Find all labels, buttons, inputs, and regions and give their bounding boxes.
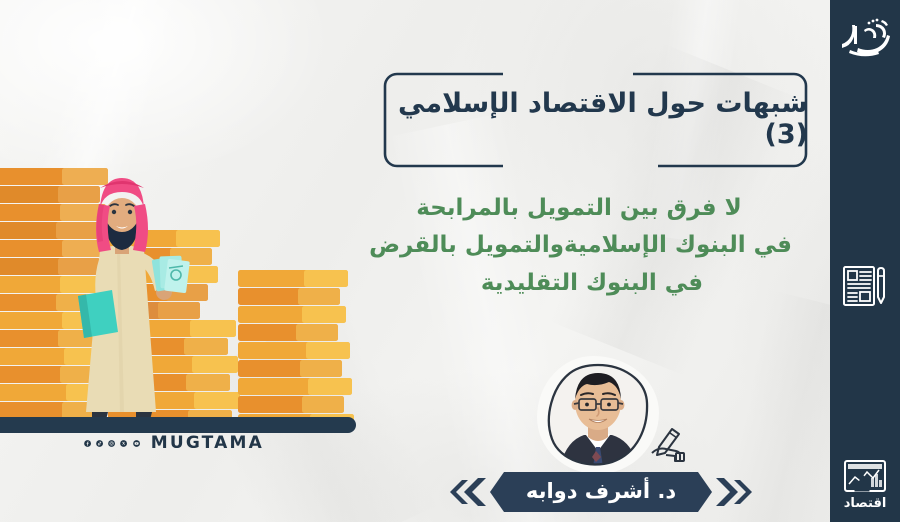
author-photo: [546, 363, 650, 467]
author-portrait: [546, 363, 650, 467]
body-line-1: لا فرق بين التمويل بالمرابحة: [392, 190, 792, 227]
instagram-icon[interactable]: [108, 436, 115, 451]
x-twitter-icon[interactable]: [120, 436, 127, 451]
youtube-icon[interactable]: [133, 436, 140, 451]
mugtama-brand-word: MUGTAMA: [151, 433, 264, 453]
banknotes: [152, 256, 190, 294]
social-links-strip: MUGTAMA: [84, 432, 264, 454]
coin-stack-right: [238, 270, 354, 431]
body-line-3: في البنوك التقليدية: [392, 265, 792, 302]
article-document-pen-icon: [841, 262, 889, 310]
author-name: د. أشرف دوابه: [526, 479, 676, 503]
title-frame: شبهات حول الاقتصاد الإسلامي (3): [383, 72, 808, 168]
ground-bar: [0, 417, 356, 433]
author-name-banner: د. أشرف دوابه: [446, 470, 756, 514]
al-mujtama-calligraphy-logo: [838, 14, 892, 60]
tiktok-icon[interactable]: [96, 436, 103, 451]
body-line-2: في البنوك الإسلاميةوالتمويل بالقرض: [392, 227, 792, 264]
body-text-block: لا فرق بين التمويل بالمرابحة في البنوك ا…: [392, 190, 792, 302]
brand-sidebar: اقتصاد: [830, 0, 900, 522]
economy-category[interactable]: اقتصاد: [844, 460, 887, 510]
poster-card: MUGTAMA شبهات حول الاقتصاد الإسلامي (3) …: [0, 0, 900, 522]
hand-writing-pen-icon: [648, 427, 688, 463]
economy-chart-monitor-icon: [844, 460, 886, 494]
facebook-icon[interactable]: [84, 436, 91, 451]
economy-label: اقتصاد: [844, 497, 887, 510]
page-title: شبهات حول الاقتصاد الإسلامي (3): [383, 72, 808, 168]
hero-illustration: [0, 150, 380, 440]
